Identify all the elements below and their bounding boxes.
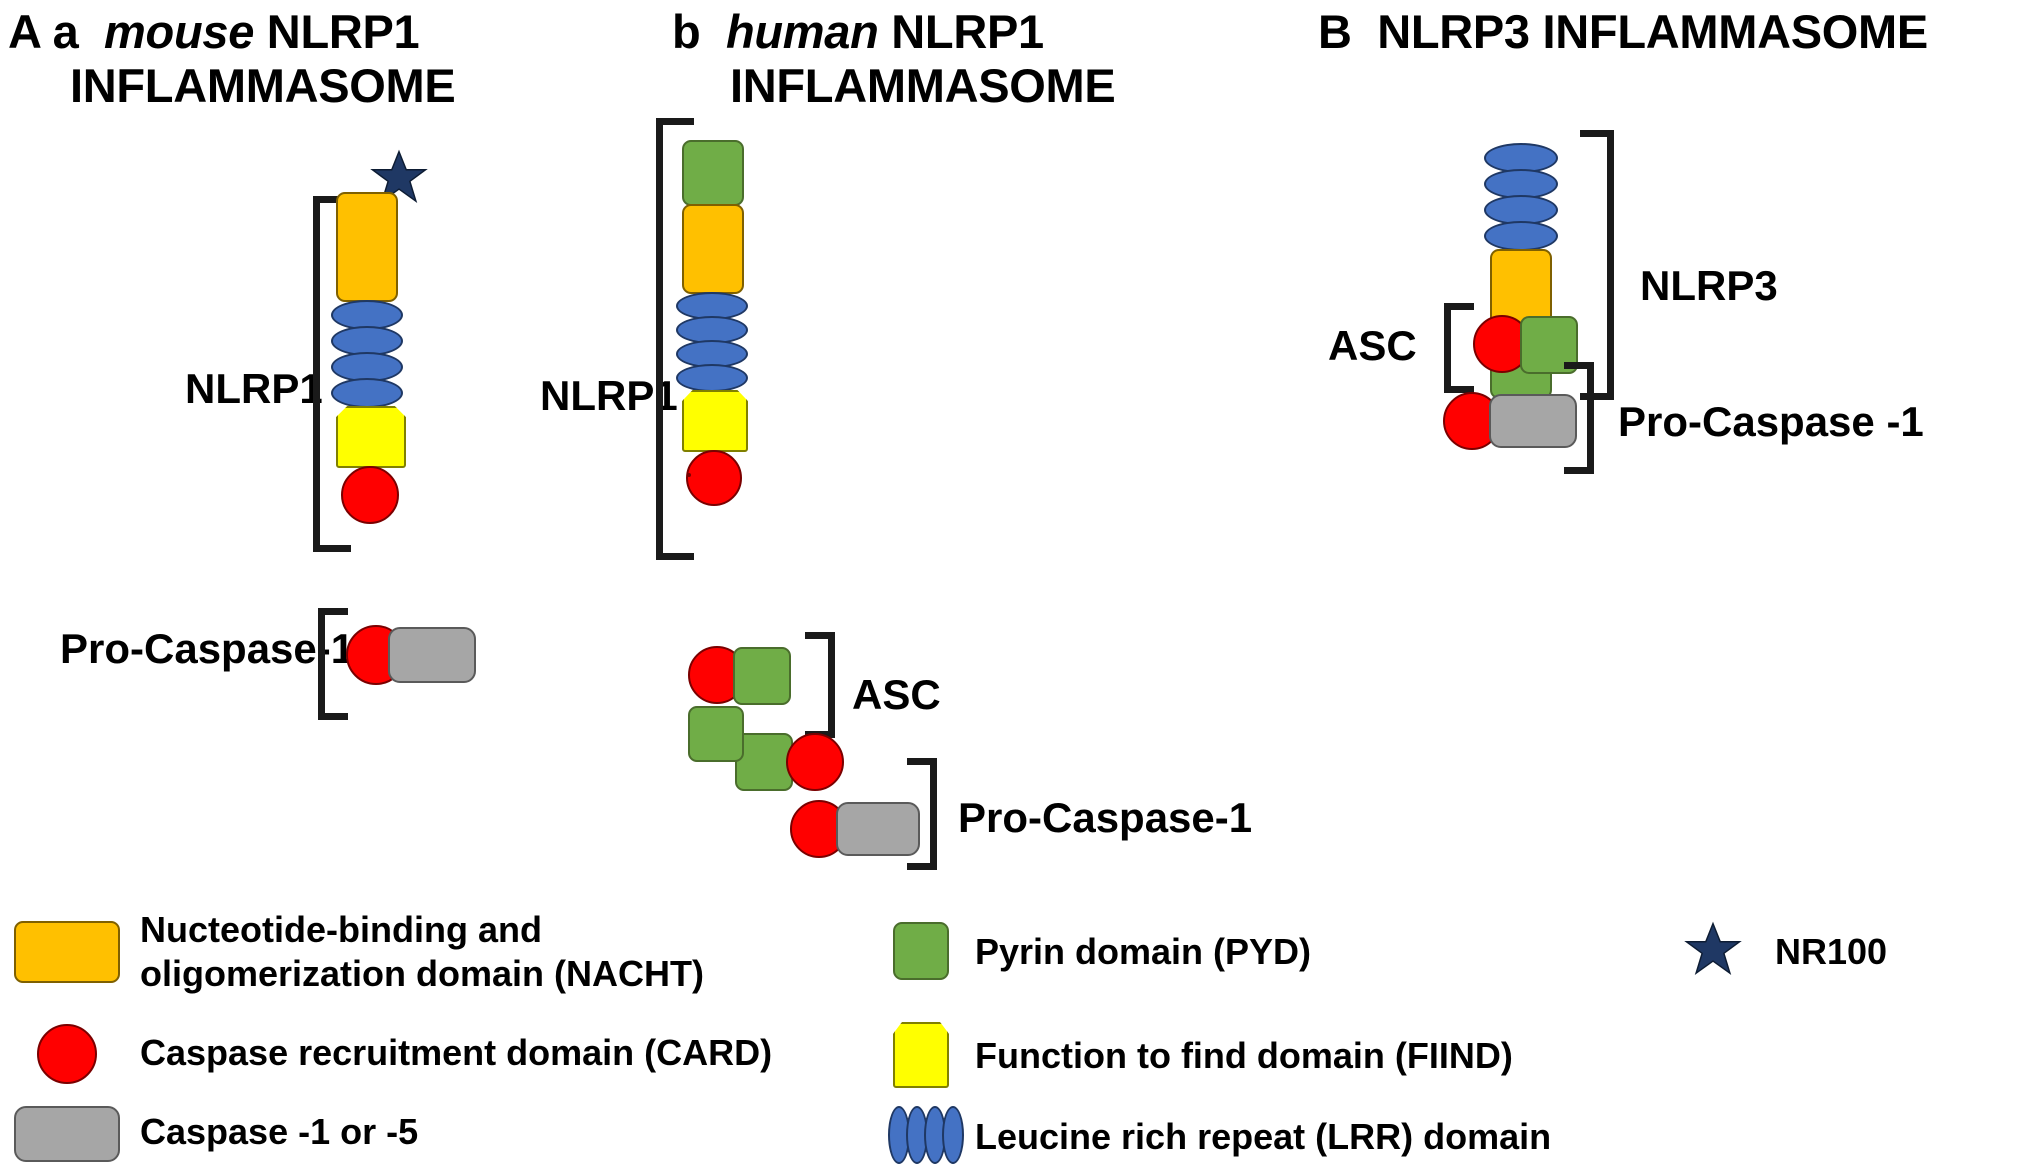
domain-nacht bbox=[682, 204, 744, 294]
legend-card-swatch bbox=[37, 1024, 97, 1084]
panel-b-title-rest: NLRP1 bbox=[879, 5, 1044, 58]
panel-b-title-italic: human bbox=[726, 5, 879, 58]
panel-B-nlrp3-label: NLRP3 bbox=[1640, 262, 1778, 310]
legend-pyd-swatch bbox=[688, 706, 744, 762]
panel-a-title-line2: INFLAMMASOME bbox=[70, 58, 455, 114]
legend-nr100-label: NR100 bbox=[1775, 930, 1887, 974]
domain-lrr bbox=[676, 364, 748, 392]
panel-a-title-rest: NLRP1 bbox=[254, 5, 419, 58]
domain-lrr bbox=[1484, 221, 1558, 251]
domain-pyd bbox=[682, 140, 744, 206]
domain-fiind bbox=[682, 390, 748, 452]
panel-B-title-text: NLRP3 INFLAMMASOME bbox=[1377, 5, 1928, 58]
panel-B-procaspase-label: Pro-Caspase -1 bbox=[1618, 398, 1924, 446]
domain-lrr bbox=[942, 1106, 964, 1164]
panel-b-procaspase-bracket bbox=[907, 758, 937, 870]
panel-a-title-italic: mouse bbox=[104, 5, 254, 58]
legend-card-label: Caspase recruitment domain (CARD) bbox=[140, 1031, 772, 1075]
panel-b-title: b human NLRP1 bbox=[672, 4, 1044, 60]
domain-caspase bbox=[388, 627, 476, 683]
legend-lrr-label: Leucine rich repeat (LRR) domain bbox=[975, 1115, 1551, 1159]
legend-fiind-label: Function to find domain (FIIND) bbox=[975, 1034, 1513, 1078]
panel-B-asc-label: ASC bbox=[1328, 322, 1417, 370]
panel-a-procaspase-label: Pro-Caspase-1 bbox=[60, 625, 354, 673]
panel-B-nlrp3-bracket bbox=[1580, 130, 1614, 400]
legend-pyd-label: Pyrin domain (PYD) bbox=[975, 930, 1311, 974]
domain-lrr bbox=[331, 378, 403, 408]
panel-b-sub-letter: b bbox=[672, 5, 700, 58]
domain-nacht bbox=[336, 192, 398, 302]
panel-a-sub-letter: a bbox=[53, 5, 79, 58]
panel-B-procaspase-bracket bbox=[1564, 362, 1594, 474]
domain-pyd bbox=[733, 647, 791, 705]
domain-card bbox=[686, 450, 742, 506]
panel-a-procaspase-bracket bbox=[318, 608, 348, 720]
legend-nacht-label: Nucteotide-binding and oligomerization d… bbox=[140, 908, 704, 996]
spacer bbox=[687, 473, 691, 477]
panel-b-asc-label: ASC bbox=[852, 671, 941, 719]
legend-caspase-label: Caspase -1 or -5 bbox=[140, 1110, 418, 1154]
legend-pyd-swatch bbox=[893, 922, 949, 980]
panel-b-title-line2: INFLAMMASOME bbox=[730, 58, 1115, 114]
panel-a-nlrp1-label: NLRP1 bbox=[185, 365, 323, 413]
panel-B-letter: B bbox=[1318, 5, 1352, 58]
panel-a-title: A a mouse NLRP1 bbox=[8, 4, 419, 60]
legend-lrr-swatch bbox=[888, 1106, 964, 1164]
domain-card bbox=[786, 733, 844, 791]
panel-B-title: B NLRP3 INFLAMMASOME bbox=[1318, 4, 1928, 60]
panel-B-asc-bracket bbox=[1444, 303, 1474, 393]
legend-caspase-swatch bbox=[14, 1106, 120, 1162]
legend-fiind-swatch bbox=[893, 1022, 949, 1088]
panel-b-asc-bracket bbox=[805, 632, 835, 738]
figure-canvas: A a mouse NLRP1 INFLAMMASOME b human NLR… bbox=[0, 0, 2031, 1175]
panel-a-letter: A bbox=[8, 5, 40, 58]
domain-fiind bbox=[336, 406, 406, 468]
legend-nr100-star-icon bbox=[1684, 920, 1742, 978]
panel-b-procaspase-label: Pro-Caspase-1 bbox=[958, 794, 1252, 842]
domain-card bbox=[341, 466, 399, 524]
legend-nacht-swatch bbox=[14, 921, 120, 983]
